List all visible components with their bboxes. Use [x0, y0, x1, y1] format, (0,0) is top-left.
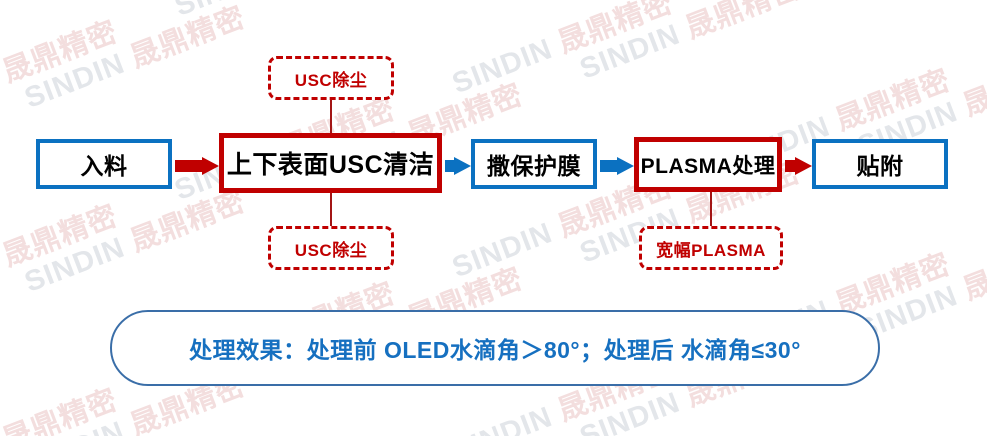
step-4: PLASMA处理	[634, 137, 782, 192]
arrow-4	[785, 156, 812, 176]
step-3-label: 撒保护膜	[487, 147, 581, 181]
step-2: 上下表面USC清洁	[219, 133, 442, 193]
result-banner: 处理效果：处理前 OLED水滴角＞80°；处理后 水滴角≤30°	[110, 310, 880, 386]
arrow-3	[600, 156, 634, 176]
connector-plasma	[710, 191, 712, 227]
watermark-text: SINDIN 晟鼎精密SINDIN 晟鼎精密SINDIN 晟鼎精密SINDIN …	[0, 0, 987, 39]
result-banner-text: 处理效果：处理前 OLED水滴角＞80°；处理后 水滴角≤30°	[189, 331, 801, 365]
annotation-usc-bottom: USC除尘	[268, 226, 394, 270]
step-4-label: PLASMA处理	[641, 150, 776, 180]
annotation-usc-bottom-label: USC除尘	[295, 236, 367, 261]
connector-usc-top	[330, 100, 332, 134]
annotation-plasma: 宽幅PLASMA	[639, 226, 783, 270]
annotation-usc-top: USC除尘	[268, 56, 394, 100]
arrow-1	[175, 156, 219, 176]
step-5: 贴附	[812, 139, 948, 189]
watermark-text: SINDIN 晟鼎精密SINDIN 晟鼎精密SINDIN 晟鼎精密SINDIN …	[0, 0, 987, 223]
connector-usc-bottom	[330, 192, 332, 227]
step-5-label: 贴附	[857, 147, 904, 181]
step-3: 撒保护膜	[471, 139, 597, 189]
process-flow-diagram: SINDIN 晟鼎精密SINDIN 晟鼎精密SINDIN 晟鼎精密SINDIN …	[0, 0, 987, 436]
watermark-text: SINDIN 晟鼎精密SINDIN 晟鼎精密SINDIN 晟鼎精密SINDIN …	[0, 0, 987, 131]
step-1: 入料	[36, 139, 172, 189]
annotation-usc-top-label: USC除尘	[295, 66, 367, 91]
step-1-label: 入料	[81, 147, 128, 181]
step-2-label: 上下表面USC清洁	[227, 145, 434, 181]
annotation-plasma-label: 宽幅PLASMA	[656, 236, 766, 261]
arrow-2	[445, 156, 471, 176]
